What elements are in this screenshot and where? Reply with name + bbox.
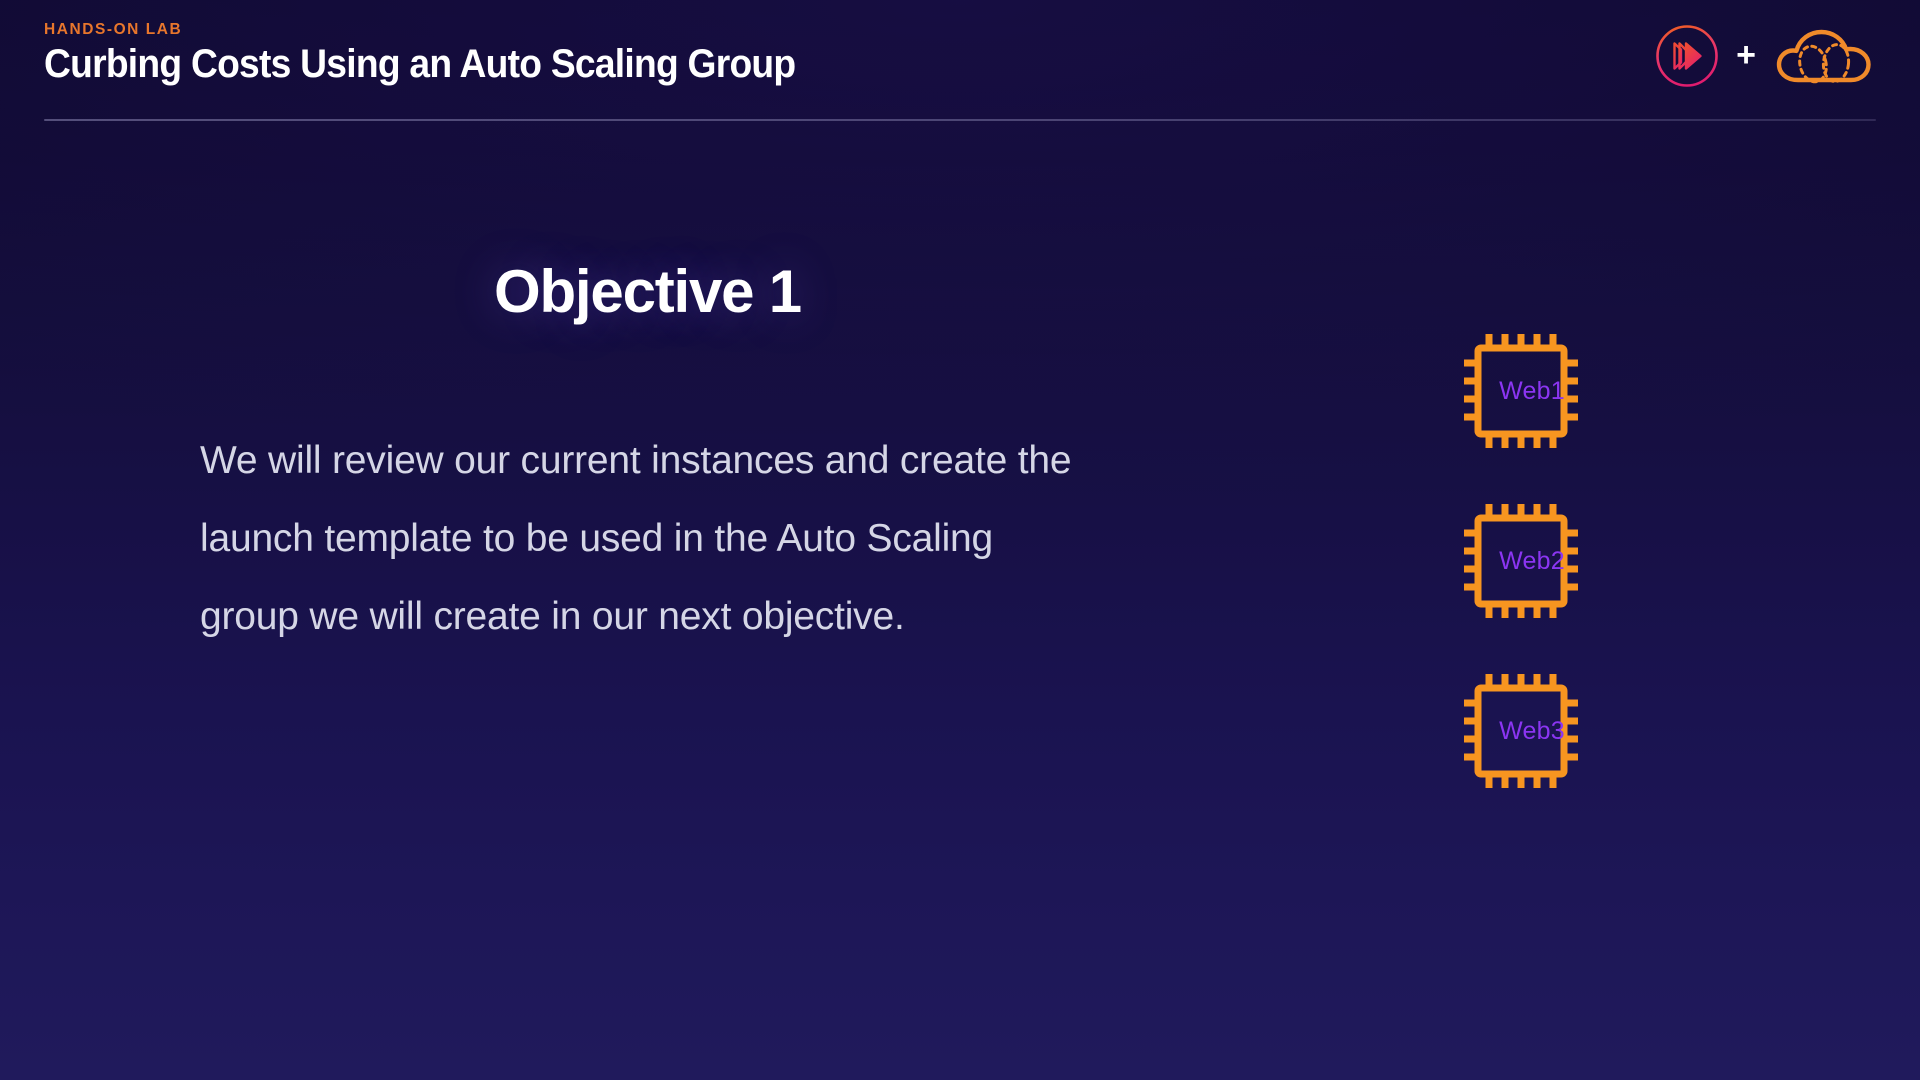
objective-heading: Objective 1 xyxy=(200,262,1095,322)
brand-logos: + xyxy=(1654,14,1876,98)
eyebrow-label: HANDS-ON LAB xyxy=(44,22,182,38)
header-divider xyxy=(44,119,1876,121)
cloud-logo xyxy=(1772,23,1876,89)
acloudguru-play-logo xyxy=(1654,23,1720,89)
instance-chip-stack: Web1 xyxy=(1452,322,1632,822)
slide-root: HANDS-ON LAB Curbing Costs Using an Auto… xyxy=(0,0,1920,1080)
cpu-chip-icon xyxy=(1452,322,1612,460)
objective-body-text: We will review our current instances and… xyxy=(200,422,1100,656)
slide-content: Objective 1 We will review our current i… xyxy=(0,122,1920,1080)
instance-chip: Web3 xyxy=(1452,662,1612,800)
header-inner: HANDS-ON LAB Curbing Costs Using an Auto… xyxy=(44,0,1876,120)
plus-separator: + xyxy=(1736,38,1756,72)
instance-chip: Web2 xyxy=(1452,492,1612,630)
cpu-chip-icon xyxy=(1452,492,1612,630)
slide-header: HANDS-ON LAB Curbing Costs Using an Auto… xyxy=(0,0,1920,122)
cpu-chip-icon xyxy=(1452,662,1612,800)
instance-chip: Web1 xyxy=(1452,322,1612,460)
page-title: Curbing Costs Using an Auto Scaling Grou… xyxy=(44,42,795,86)
